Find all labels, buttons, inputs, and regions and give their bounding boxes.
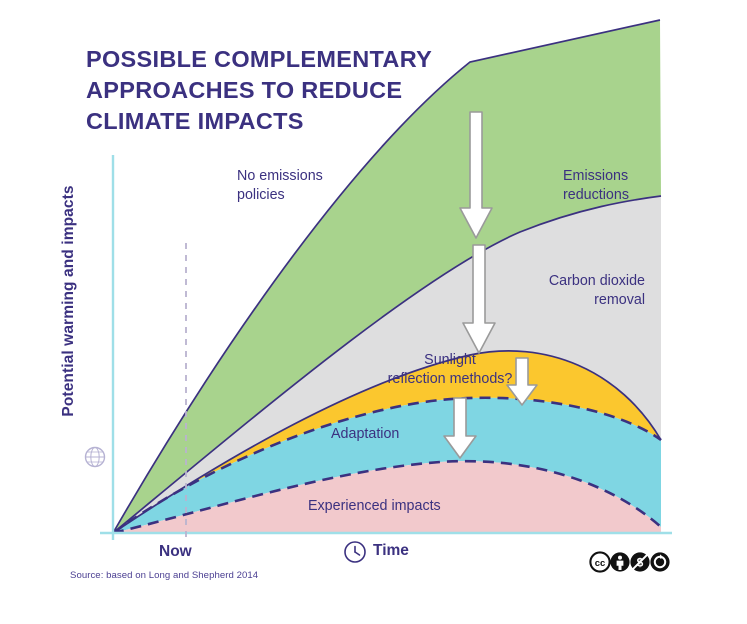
band-label-line-2: removal <box>519 291 645 310</box>
x-axis-label: Time <box>373 542 409 560</box>
source-attribution: Source: based on Long and Shepherd 2014 <box>70 570 258 581</box>
globe-watermark-icon <box>86 448 105 467</box>
cc-by-icon <box>610 552 629 571</box>
page-title-line-1: Possible complementary <box>86 44 506 75</box>
page-title-line-3: climate impacts <box>86 106 506 137</box>
band-label-line-1: No emissions <box>237 167 323 186</box>
page-title: Possible complementary approaches to red… <box>86 44 506 137</box>
infographic-canvas: cc $ Possible complementary approaches t… <box>0 0 747 624</box>
band-label-line-1: Sunlight <box>381 351 519 370</box>
band-label-experienced-impacts: Experienced impacts <box>308 497 441 516</box>
band-label-line-2: reductions <box>563 186 629 205</box>
svg-text:cc: cc <box>595 558 606 569</box>
creative-commons-license[interactable]: cc $ <box>590 552 669 571</box>
cc-nc-icon: $ <box>630 552 649 571</box>
band-label-line-1: Adaptation <box>331 425 399 444</box>
band-label-line-1: Experienced impacts <box>308 497 441 516</box>
band-label-line-2: reflection methods? <box>381 370 519 389</box>
band-label-sunlight-reflection-methods: Sunlight reflection methods? <box>381 351 519 389</box>
band-label-carbon-dioxide-removal: Carbon dioxide removal <box>519 272 645 310</box>
band-label-emissions-reductions: Emissions reductions <box>563 167 629 205</box>
band-label-adaptation: Adaptation <box>331 425 399 444</box>
clock-icon <box>345 542 365 562</box>
band-label-line-2: policies <box>237 186 323 205</box>
cc-icon: cc <box>590 552 609 571</box>
band-label-no-emissions-policies: No emissions policies <box>237 167 323 205</box>
y-axis-label: Potential warming and impacts <box>60 166 78 436</box>
band-label-line-1: Emissions <box>563 167 629 186</box>
page-title-line-2: approaches to reduce <box>86 75 506 106</box>
x-axis-now-label: Now <box>159 543 192 561</box>
cc-sa-icon <box>650 552 669 571</box>
band-label-line-1: Carbon dioxide <box>519 272 645 291</box>
